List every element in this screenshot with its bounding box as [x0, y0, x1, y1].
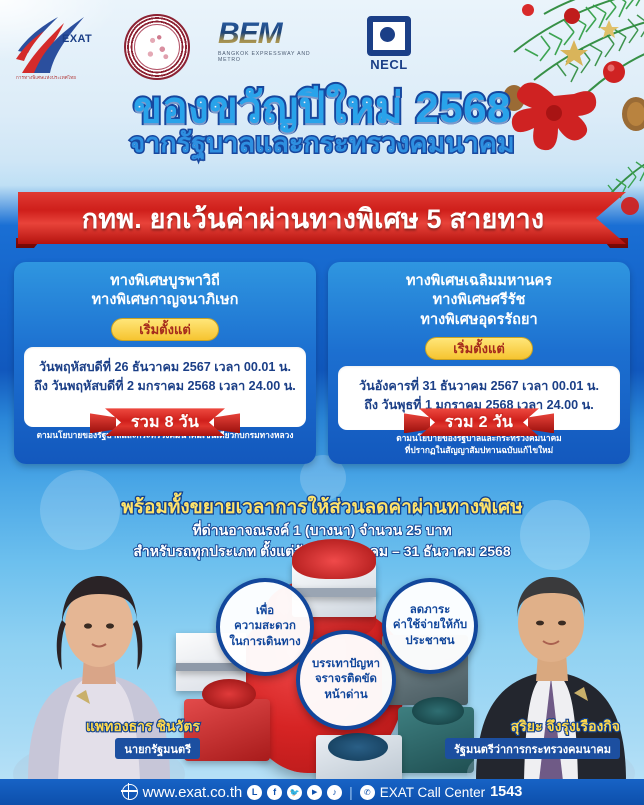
person-role: นายกรัฐมนตรี — [115, 738, 200, 759]
royal-seal-logo — [124, 14, 190, 80]
benefit-circle-3: ลดภาระ ค่าใช้จ่ายให้กับ ประชาชน — [382, 578, 478, 674]
globe-icon — [122, 784, 138, 800]
person-role: รัฐมนตรีว่าการกระทรวงคมนาคม — [445, 738, 620, 759]
royal-seal-inner — [134, 24, 180, 70]
youtube-icon[interactable]: ▶ — [307, 785, 322, 800]
start-badge-label: เริ่มตั้งแต่ — [453, 338, 505, 359]
exat-logo: EXAT การทางพิเศษแห่งประเทศไทย — [14, 11, 106, 83]
bem-logo-text: BEM — [218, 19, 328, 49]
benefit-line: จราจรติดขัด — [312, 672, 380, 687]
headline-block: ของขวัญปีใหม่ 2568 จากรัฐบาลและกระทรวงคม… — [0, 86, 644, 158]
total-days-text: รวม 2 วัน — [445, 410, 513, 435]
start-badge: เริ่มตั้งแต่ — [111, 318, 219, 341]
call-center-label: EXAT Call Center — [380, 785, 485, 800]
person-name: แพทองธาร ชินวัตร — [30, 718, 200, 735]
facebook-icon[interactable]: f — [267, 785, 282, 800]
necl-logo: NECL — [354, 16, 424, 78]
ribbon-text: กทพ. ยกเว้นค่าผ่านทางพิเศษ 5 สายทาง — [82, 197, 563, 240]
footer-separator: | — [349, 784, 353, 800]
benefit-line: ค่าใช้จ่ายให้กับ — [393, 618, 467, 633]
date-line: ถึง วันพฤหัสบดีที่ 2 มกราคม 2568 เวลา 24… — [30, 377, 300, 396]
bem-logo: BEM BANGKOK EXPRESSWAY AND METRO — [218, 19, 328, 75]
benefit-line: ประชาชน — [393, 634, 467, 649]
bem-logo-tagline: BANGKOK EXPRESSWAY AND METRO — [218, 51, 328, 63]
benefit-circle-1-text: เพื่อ ความสะดวก ในการเดินทาง — [229, 604, 300, 650]
poster-root: EXAT การทางพิเศษแห่งประเทศไทย BEM BANGKO… — [0, 0, 644, 805]
main-ribbon-banner: กทพ. ยกเว้นค่าผ่านทางพิเศษ 5 สายทาง — [18, 192, 626, 248]
website-url[interactable]: www.exat.co.th — [143, 784, 242, 801]
exat-logo-text: EXAT — [62, 33, 92, 45]
total-days-ribbon: รวม 8 วัน — [91, 408, 239, 438]
card-title-line: ทางพิเศษอุดรรัถยา — [338, 311, 620, 330]
card-note-line: ที่ปรากฏในสัญญาสัมปทานฉบับแก้ไขใหม่ — [338, 444, 620, 456]
info-cards-row: ทางพิเศษบูรพาวิถี ทางพิเศษกาญจนาภิเษก เร… — [14, 262, 630, 464]
promo-line-1: พร้อมทั้งขยายเวลาการให้ส่วนลดค่าผ่านทางพ… — [0, 497, 644, 520]
ribbon-body: กทพ. ยกเว้นค่าผ่านทางพิเศษ 5 สายทาง — [18, 192, 626, 244]
headline-main: ของขวัญปีใหม่ 2568 — [0, 86, 644, 131]
benefit-circle-2: บรรเทาปัญหา จราจรติดขัด หน้าด่าน — [296, 630, 396, 730]
benefit-line: ในการเดินทาง — [229, 635, 300, 650]
ribbon-body-small: รวม 8 วัน — [105, 408, 225, 436]
gift-bow — [328, 733, 388, 761]
gift-box-ribbon — [292, 588, 376, 597]
info-card-left: ทางพิเศษบูรพาวิถี ทางพิเศษกาญจนาภิเษก เร… — [14, 262, 316, 464]
card-title: ทางพิเศษบูรพาวิถี ทางพิเศษกาญจนาภิเษก — [24, 272, 306, 311]
person-name-block-left: แพทองธาร ชินวัตร นายกรัฐมนตรี — [30, 718, 200, 759]
necl-logo-mark — [367, 16, 411, 56]
benefit-line: บรรเทาปัญหา — [312, 657, 380, 672]
benefit-line: ความสะดวก — [229, 619, 300, 634]
ribbon-body-small: รวม 2 วัน — [419, 408, 539, 436]
exat-logo-thai: การทางพิเศษแห่งประเทศไทย — [16, 75, 76, 82]
twitter-icon[interactable]: 🐦 — [287, 785, 302, 800]
gift-bow-red-top — [292, 539, 376, 579]
phone-icon[interactable]: ✆ — [360, 785, 375, 800]
benefit-circle-2-text: บรรเทาปัญหา จราจรติดขัด หน้าด่าน — [312, 657, 380, 703]
footer-bar: www.exat.co.th L f 🐦 ▶ ♪ | ✆ EXAT Call C… — [0, 779, 644, 805]
gift-bow — [202, 679, 256, 709]
card-title-line: ทางพิเศษบูรพาวิถี — [24, 272, 306, 291]
headline-sub: จากรัฐบาลและกระทรวงคมนาคม — [0, 129, 644, 159]
benefit-line: ลดภาระ — [393, 603, 467, 618]
necl-logo-text: NECL — [354, 57, 424, 72]
start-badge: เริ่มตั้งแต่ — [425, 337, 533, 360]
card-title: ทางพิเศษเฉลิมมหานคร ทางพิเศษศรีรัช ทางพิ… — [338, 272, 620, 330]
logo-bar: EXAT การทางพิเศษแห่งประเทศไทย BEM BANGKO… — [0, 8, 644, 86]
person-name: สุริยะ จึงรุ่งเรืองกิจ — [410, 718, 620, 735]
card-title-line: ทางพิเศษศรีรัช — [338, 291, 620, 310]
card-title-line: ทางพิเศษเฉลิมมหานคร — [338, 272, 620, 291]
call-center-number: 1543 — [490, 784, 522, 800]
card-title-line: ทางพิเศษกาญจนาภิเษก — [24, 291, 306, 310]
tiktok-icon[interactable]: ♪ — [327, 785, 342, 800]
date-line: วันอังคารที่ 31 ธันวาคม 2567 เวลา 00.01 … — [344, 377, 614, 396]
benefit-line: หน้าด่าน — [312, 688, 380, 703]
benefit-line: เพื่อ — [229, 604, 300, 619]
date-line: วันพฤหัสบดีที่ 26 ธันวาคม 2567 เวลา 00.0… — [30, 358, 300, 377]
person-name-block-right: สุริยะ จึงรุ่งเรืองกิจ รัฐมนตรีว่าการกระ… — [410, 718, 620, 759]
info-card-right: ทางพิเศษเฉลิมมหานคร ทางพิเศษศรีรัช ทางพิ… — [328, 262, 630, 464]
line-icon[interactable]: L — [247, 785, 262, 800]
total-days-text: รวม 8 วัน — [131, 410, 199, 435]
benefit-circle-3-text: ลดภาระ ค่าใช้จ่ายให้กับ ประชาชน — [393, 603, 467, 649]
total-days-ribbon: รวม 2 วัน — [405, 408, 553, 438]
start-badge-label: เริ่มตั้งแต่ — [139, 319, 191, 340]
